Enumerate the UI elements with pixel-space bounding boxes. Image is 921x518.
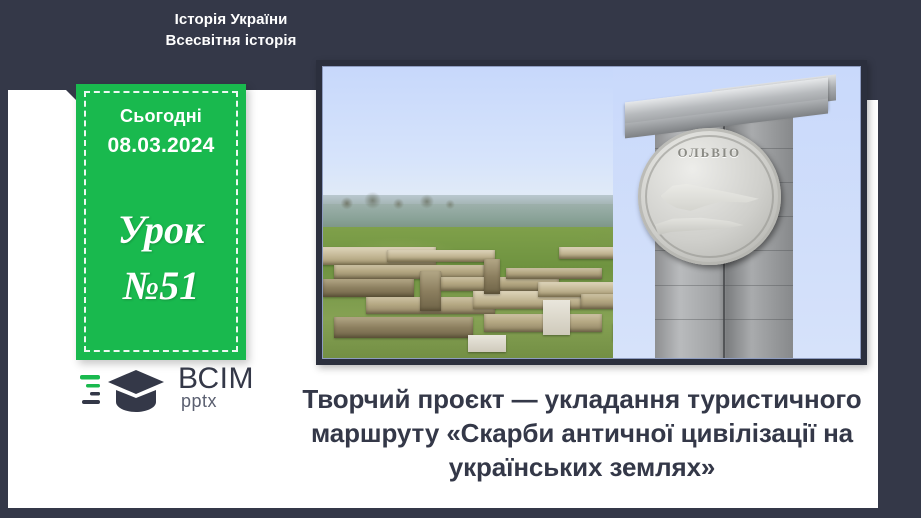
header-title-line1: Історія України <box>66 9 396 30</box>
photo-frame: ОЛЬВІО <box>316 60 867 365</box>
lesson-card: Сьогодні 08.03.2024 Урок №51 <box>76 84 246 360</box>
slide: Історія України Всесвітня історія Сьогод… <box>0 0 921 518</box>
page-title: Історія України Всесвітня історія <box>66 9 396 51</box>
today-label: Сьогодні <box>76 106 246 127</box>
graduation-cap-icon <box>104 368 168 416</box>
slide-main-title: Творчий проєкт — укладання туристичного … <box>268 382 896 484</box>
lesson-word: Урок <box>76 206 246 253</box>
lesson-number: №51 <box>76 262 246 309</box>
today-date: 08.03.2024 <box>76 134 246 158</box>
logo-name: ВСІМ <box>178 364 254 394</box>
ruin-wall <box>387 250 494 262</box>
medallion-inscription: ОЛЬВІО <box>638 145 781 161</box>
bottom-edge-band <box>0 508 921 518</box>
ruin-wall <box>334 317 474 337</box>
card-fold-corner-icon <box>60 84 76 100</box>
header-title-line2: Всесвітня історія <box>66 30 396 51</box>
left-edge-band <box>0 60 8 518</box>
ruin-wall <box>323 279 414 296</box>
ruin-stone-block <box>543 300 570 335</box>
photo-treeline <box>334 183 463 212</box>
olbio-medallion: ОЛЬВІО <box>638 128 781 265</box>
logo-subtitle: pptx <box>181 392 217 410</box>
vsim-pptx-logo[interactable]: ВСІМ pptx <box>80 366 255 418</box>
olbio-monument: ОЛЬВІО <box>613 67 860 358</box>
ruin-wall <box>484 259 500 294</box>
ruin-wall <box>420 271 441 312</box>
olbia-ruins-photo: ОЛЬВІО <box>322 66 861 359</box>
ruin-stone-block <box>468 335 506 352</box>
ruin-wall <box>506 268 603 280</box>
